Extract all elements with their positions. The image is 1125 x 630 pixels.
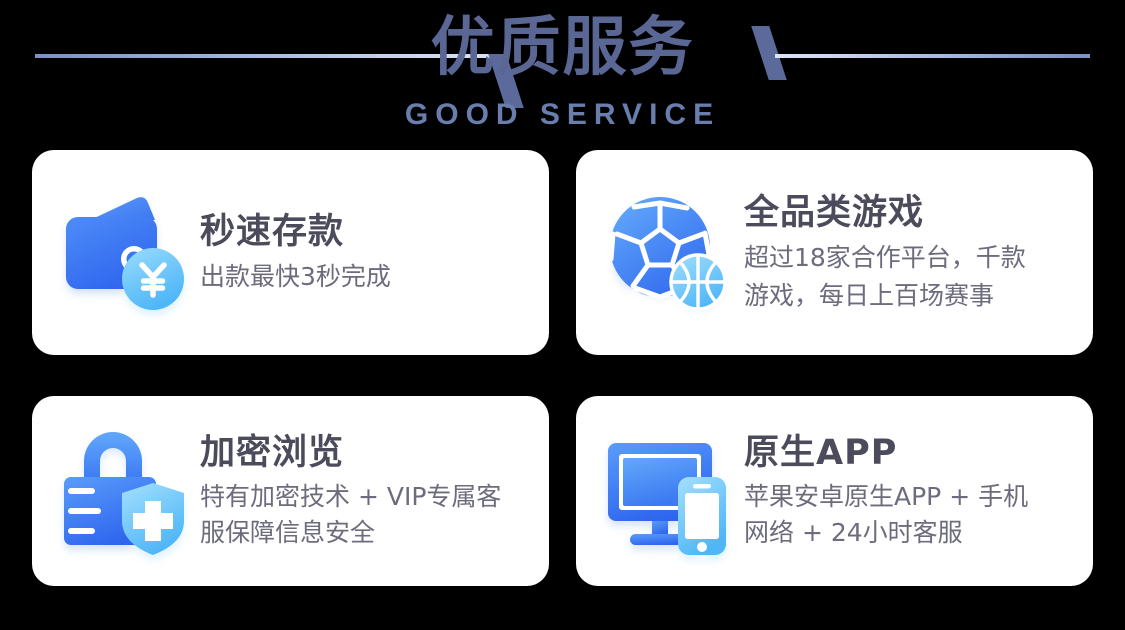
- card-description: 超过18家合作平台，千款 游戏，每日上百场赛事: [744, 239, 1071, 315]
- feature-card-grid: 秒速存款 出款最快3秒完成: [32, 150, 1093, 586]
- card-description-line: 超过18家合作平台，千款: [744, 239, 1071, 277]
- card-description-line: 服保障信息安全: [200, 515, 527, 551]
- lock-shield-icon: [58, 425, 190, 557]
- feature-card-encryption[interactable]: 加密浏览 特有加密技术 + VIP专属客 服保障信息安全: [32, 396, 549, 586]
- feature-card-games[interactable]: 全品类游戏 超过18家合作平台，千款 游戏，每日上百场赛事: [576, 150, 1093, 355]
- card-description-line: 网络 + 24小时客服: [744, 515, 1071, 551]
- card-description-line: 苹果安卓原生APP + 手机: [744, 479, 1071, 515]
- page-title: 优质服务: [0, 8, 1125, 88]
- card-text: 全品类游戏 超过18家合作平台，千款 游戏，每日上百场赛事: [734, 191, 1071, 315]
- card-text: 加密浏览 特有加密技术 + VIP专属客 服保障信息安全: [190, 431, 527, 551]
- promo-banner: 优质服务 GOOD SERVICE: [0, 0, 1125, 630]
- card-text: 原生APP 苹果安卓原生APP + 手机 网络 + 24小时客服: [734, 431, 1071, 551]
- card-title: 全品类游戏: [744, 191, 1071, 235]
- card-description: 出款最快3秒完成: [200, 258, 527, 296]
- card-description: 特有加密技术 + VIP专属客 服保障信息安全: [200, 479, 527, 551]
- feature-card-native-app[interactable]: 原生APP 苹果安卓原生APP + 手机 网络 + 24小时客服: [576, 396, 1093, 586]
- card-title: 秒速存款: [200, 210, 527, 254]
- card-title: 加密浏览: [200, 431, 527, 475]
- wallet-coin-icon: [58, 187, 190, 319]
- card-description-line: 游戏，每日上百场赛事: [744, 277, 1071, 315]
- card-description-line: 出款最快3秒完成: [200, 258, 527, 296]
- page-subtitle: GOOD SERVICE: [0, 98, 1125, 132]
- header: 优质服务 GOOD SERVICE: [0, 0, 1125, 146]
- card-description-line: 特有加密技术 + VIP专属客: [200, 479, 527, 515]
- soccer-basketball-icon: [602, 187, 734, 319]
- monitor-phone-icon: [602, 425, 734, 557]
- card-title: 原生APP: [744, 431, 1071, 475]
- card-text: 秒速存款 出款最快3秒完成: [190, 210, 527, 296]
- card-description: 苹果安卓原生APP + 手机 网络 + 24小时客服: [744, 479, 1071, 551]
- feature-card-deposit[interactable]: 秒速存款 出款最快3秒完成: [32, 150, 549, 355]
